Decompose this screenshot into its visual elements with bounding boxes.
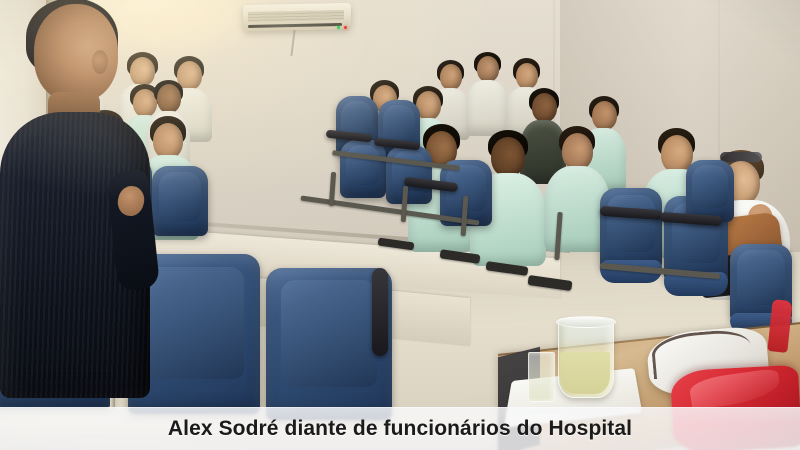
chair-row2-center-2: [386, 146, 432, 204]
chair-row1-left-2: [152, 166, 208, 236]
caption-text: Alex Sodré diante de funcionários do Hos…: [168, 417, 632, 441]
chair-foreground-armrest-right: [372, 268, 388, 356]
presentation-photograph: Alex Sodré diante de funcionários do Hos…: [0, 0, 800, 450]
chair-wall-right: [686, 160, 734, 222]
air-conditioner-standby-led: [344, 26, 347, 29]
water-pitcher-rim: [556, 316, 616, 328]
air-conditioner-louver: [248, 10, 344, 22]
chair-row2-center: [340, 140, 386, 198]
water-pitcher-contents: [560, 352, 610, 394]
presenter-ear: [92, 50, 108, 74]
drinking-glass: [528, 352, 555, 402]
air-conditioner-power-led: [337, 26, 340, 29]
caption-bar: Alex Sodré diante de funcionários do Hos…: [0, 407, 800, 450]
chair-row1-right: [600, 188, 662, 270]
